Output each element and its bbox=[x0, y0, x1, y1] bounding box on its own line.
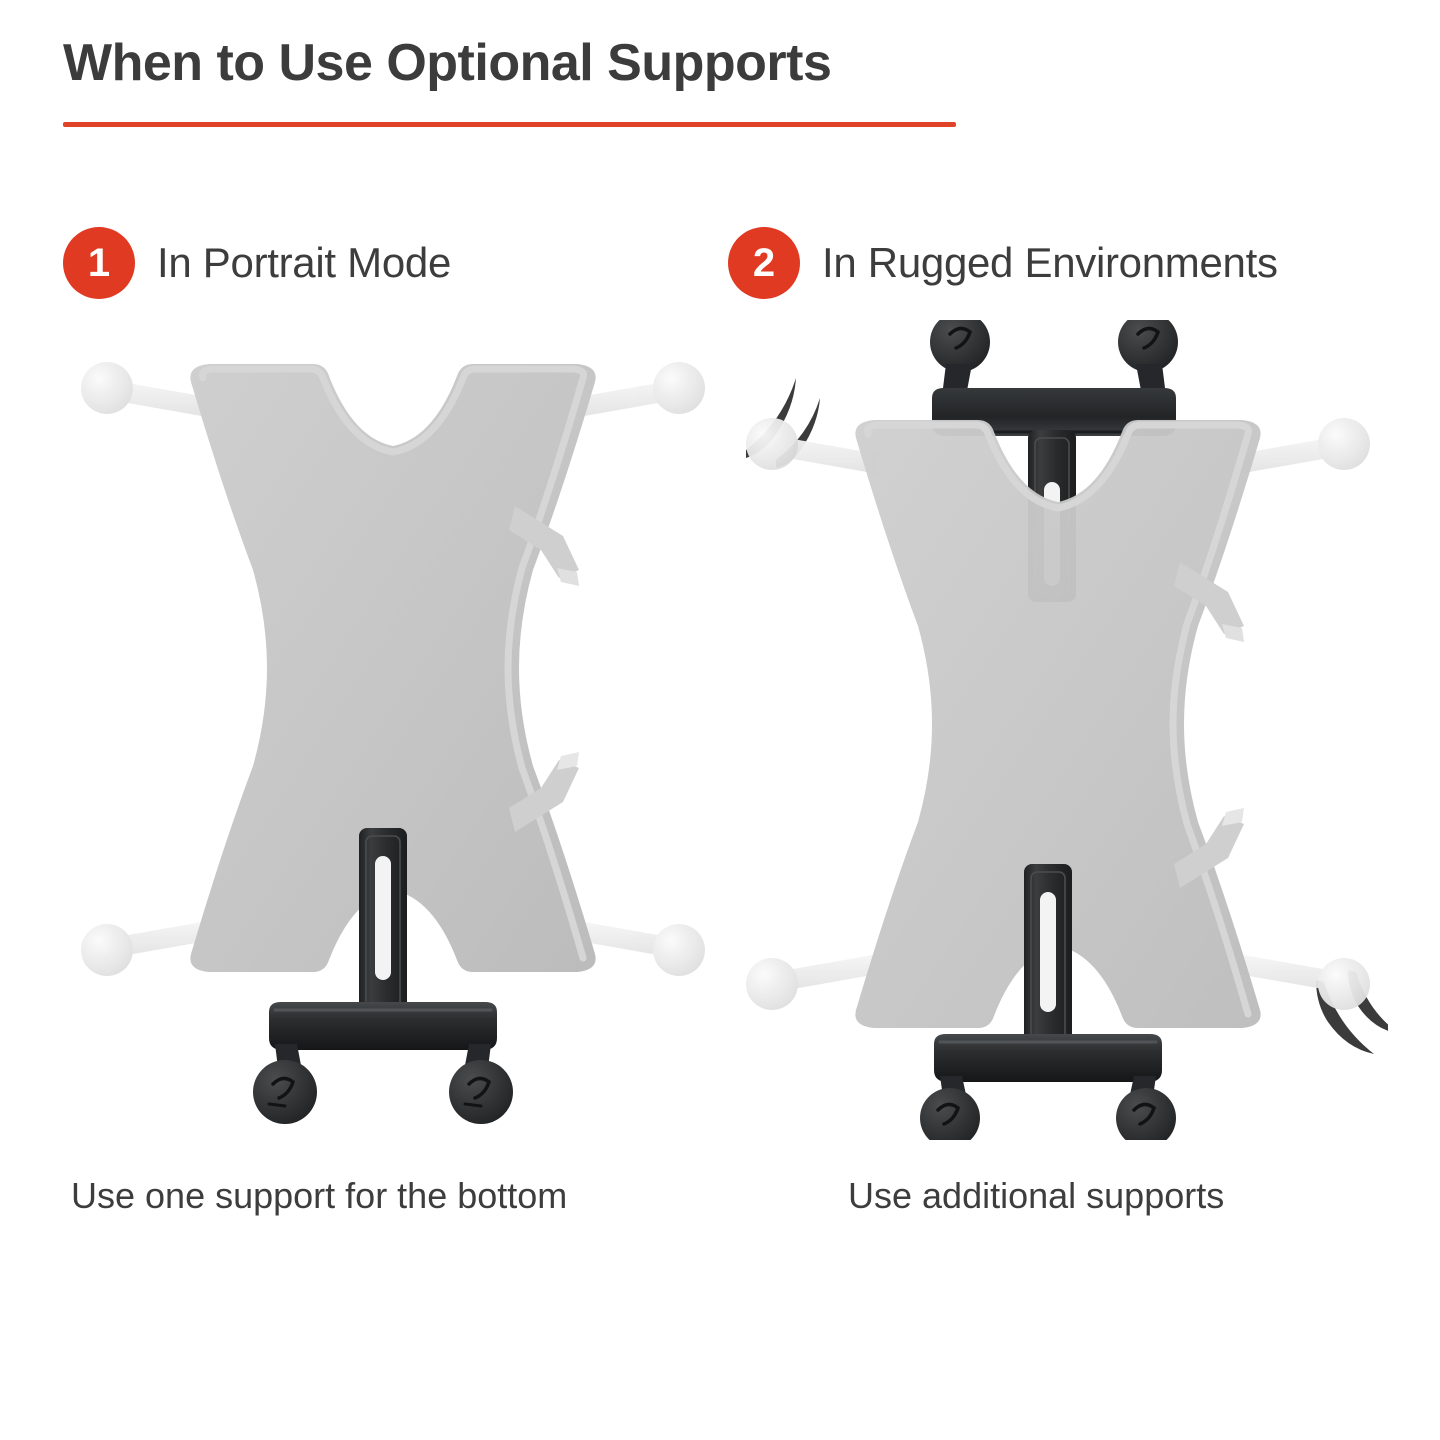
panel-rugged-environments: 2 In Rugged Environments bbox=[728, 225, 1388, 1285]
title-underline-rule bbox=[63, 122, 956, 127]
step-number-badge-1: 1 bbox=[63, 227, 135, 299]
panel-2-caption: Use additional supports bbox=[848, 1175, 1224, 1217]
infographic-page: When to Use Optional Supports 1 In Portr… bbox=[0, 0, 1440, 1440]
step-number-badge-2: 2 bbox=[728, 227, 800, 299]
panel-1-heading: In Portrait Mode bbox=[157, 239, 451, 287]
page-title: When to Use Optional Supports bbox=[63, 33, 831, 93]
panel-1-caption: Use one support for the bottom bbox=[71, 1175, 567, 1217]
figure-rugged-environments bbox=[728, 320, 1388, 1140]
panel-2-heading: In Rugged Environments bbox=[822, 239, 1278, 287]
figure-portrait-mode bbox=[63, 320, 723, 1140]
panel-2-header: 2 In Rugged Environments bbox=[728, 225, 1278, 301]
panel-portrait-mode: 1 In Portrait Mode bbox=[63, 225, 723, 1285]
panel-1-header: 1 In Portrait Mode bbox=[63, 225, 451, 301]
